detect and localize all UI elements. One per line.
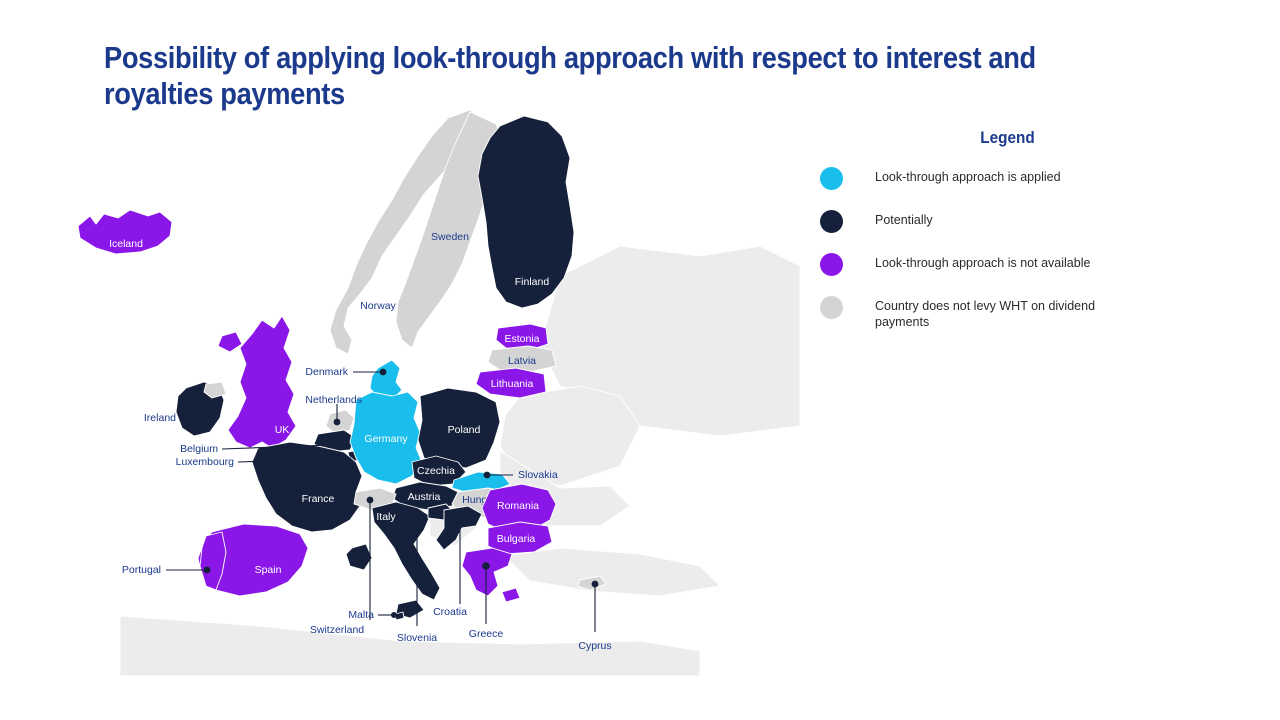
callout-label-switzerland: Switzerland (310, 624, 364, 636)
callout-label-portugal: Portugal (122, 564, 161, 576)
map-label-austria: Austria (408, 491, 441, 503)
country-italy[interactable]: Italy (346, 502, 440, 618)
country-estonia[interactable]: Estonia (496, 324, 548, 350)
legend-item-potentially: Potentially (820, 209, 1150, 233)
country-poland[interactable]: Poland (418, 388, 500, 468)
country-germany[interactable]: Germany (350, 392, 422, 484)
legend-item-applied: Look-through approach is applied (820, 166, 1150, 190)
legend-dot-applied (820, 167, 843, 190)
map-label-france: France (302, 493, 335, 505)
europe-map: Iceland Norway Sweden Finland Estonia La… (0, 96, 800, 676)
legend-label-applied: Look-through approach is applied (875, 166, 1061, 185)
map-label-estonia: Estonia (504, 333, 539, 345)
map-label-romania: Romania (497, 500, 539, 512)
callout-label-denmark: Denmark (305, 366, 348, 378)
map-label-latvia: Latvia (508, 355, 536, 367)
legend-dot-not-available (820, 253, 843, 276)
land-north-africa (120, 616, 700, 676)
land-turkey (505, 548, 720, 596)
legend-label-not-available: Look-through approach is not available (875, 252, 1090, 271)
callout-label-slovakia: Slovakia (518, 469, 558, 481)
callout-label-belgium: Belgium (180, 443, 218, 455)
map-label-spain: Spain (255, 564, 282, 576)
callout-portugal[interactable]: Portugal (122, 564, 211, 576)
map-label-sweden: Sweden (431, 231, 469, 243)
map-label-lithuania: Lithuania (491, 378, 534, 390)
map-label-czechia: Czechia (417, 465, 455, 477)
callout-label-slovenia: Slovenia (397, 632, 437, 644)
callout-label-malta: Malta (348, 609, 374, 621)
country-uk[interactable]: UK (218, 316, 296, 448)
callout-label-cyprus: Cyprus (578, 640, 611, 652)
map-label-bulgaria: Bulgaria (497, 533, 536, 545)
legend-item-no-wht: Country does not levy WHT on dividend pa… (820, 295, 1150, 330)
map-label-poland: Poland (448, 424, 481, 436)
slide-canvas: Possibility of applying look-through app… (0, 0, 1280, 720)
legend-dot-no-wht (820, 296, 843, 319)
callout-label-luxembourg: Luxembourg (176, 456, 235, 468)
legend-label-no-wht: Country does not levy WHT on dividend pa… (875, 295, 1125, 330)
country-bulgaria[interactable]: Bulgaria (488, 522, 552, 554)
map-label-italy: Italy (376, 511, 396, 523)
country-greece[interactable] (462, 548, 520, 602)
map-label-norway: Norway (360, 300, 396, 312)
callout-label-netherlands: Netherlands (305, 394, 362, 406)
callout-malta[interactable]: Malta (348, 609, 397, 621)
map-label-germany: Germany (364, 433, 408, 445)
legend-dot-potentially (820, 210, 843, 233)
legend-title: Legend (839, 128, 1177, 148)
callout-label-ireland: Ireland (144, 412, 176, 424)
country-latvia[interactable]: Latvia (488, 346, 556, 372)
country-ireland[interactable] (176, 382, 226, 436)
legend-item-not-available: Look-through approach is not available (820, 252, 1150, 276)
legend-label-potentially: Potentially (875, 209, 933, 228)
map-label-iceland: Iceland (109, 238, 143, 250)
country-finland[interactable]: Finland (478, 116, 574, 308)
legend: Legend Look-through approach is applied … (820, 128, 1150, 349)
callout-label-croatia: Croatia (433, 606, 467, 618)
country-france[interactable]: France (252, 442, 362, 532)
map-label-uk: UK (275, 424, 290, 436)
country-iceland[interactable]: Iceland (78, 210, 172, 254)
callout-label-greece: Greece (469, 628, 504, 640)
country-lithuania[interactable]: Lithuania (476, 368, 546, 398)
map-label-finland: Finland (515, 276, 550, 288)
